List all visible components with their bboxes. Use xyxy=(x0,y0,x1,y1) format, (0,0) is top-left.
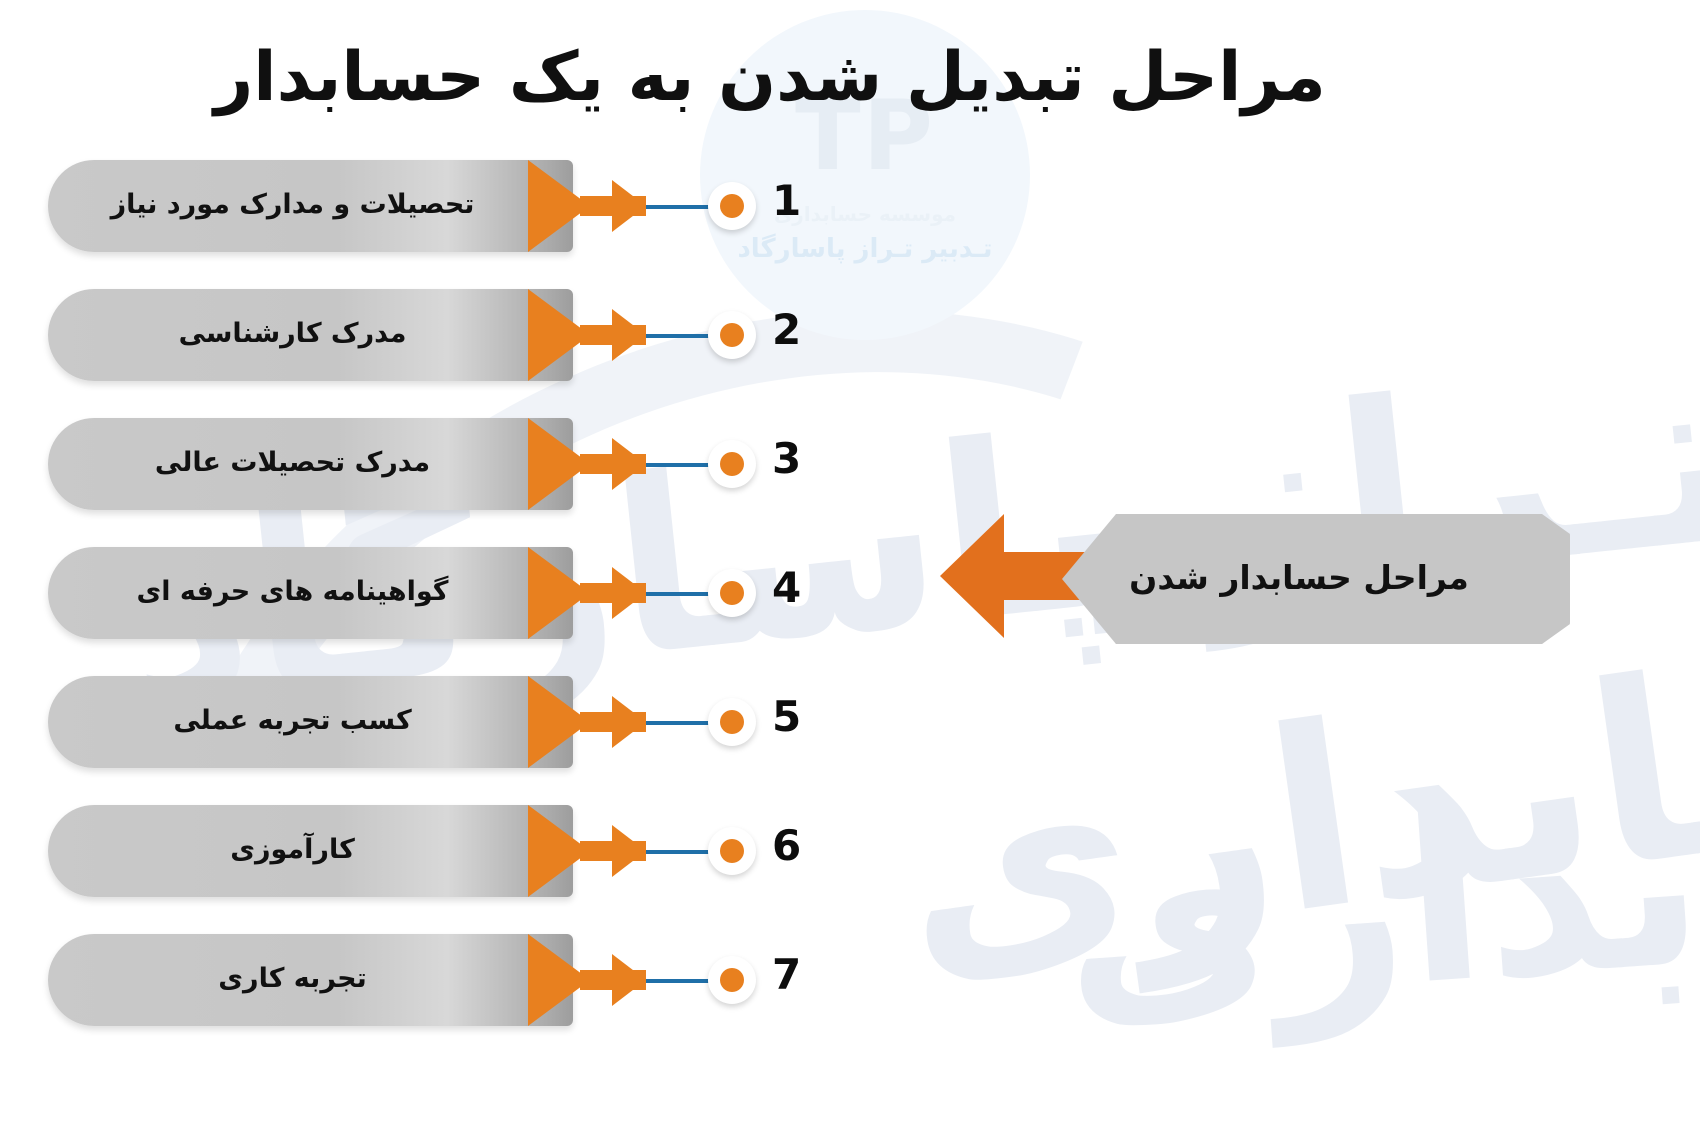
arrow-right-icon xyxy=(528,805,646,897)
step-number: 6 xyxy=(772,821,801,870)
step-marker xyxy=(708,569,756,617)
step-marker xyxy=(708,311,756,359)
step-label: گواهینامه های حرفه ای xyxy=(137,576,485,610)
watermark-calligraphy-bottom: موسسه حسابداری xyxy=(1055,667,1700,1042)
step-dot-icon xyxy=(720,839,744,863)
step-label: کسب تجربه عملی xyxy=(173,705,447,739)
summary-callout[interactable]: مراحل حسابدار شدن xyxy=(940,496,1570,656)
step-number: 1 xyxy=(772,176,801,225)
step-dot-icon xyxy=(720,323,744,347)
step-bar[interactable]: گواهینامه های حرفه ای xyxy=(48,547,573,639)
step-bar[interactable]: مدرک تحصیلات عالی xyxy=(48,418,573,510)
step-row[interactable]: مدرک کارشناسی 2 xyxy=(0,289,960,381)
summary-label: مراحل حسابدار شدن xyxy=(1129,558,1503,601)
step-label: کارآموزی xyxy=(230,834,391,868)
step-label: مدرک تحصیلات عالی xyxy=(155,447,466,481)
step-label: مدرک کارشناسی xyxy=(179,318,443,352)
step-bar[interactable]: مدرک کارشناسی xyxy=(48,289,573,381)
step-bar[interactable]: کارآموزی xyxy=(48,805,573,897)
step-dot-icon xyxy=(720,968,744,992)
step-bar[interactable]: تحصیلات و مدارک مورد نیاز xyxy=(48,160,573,252)
step-marker xyxy=(708,956,756,1004)
page-title: مراحل تبدیل شدن به یک حسابدار xyxy=(0,38,1700,117)
arrow-right-icon xyxy=(528,547,646,639)
step-row[interactable]: کسب تجربه عملی 5 xyxy=(0,676,960,768)
step-number: 2 xyxy=(772,305,801,354)
step-number: 7 xyxy=(772,950,801,999)
summary-box[interactable]: مراحل حسابدار شدن xyxy=(1062,514,1570,644)
step-row[interactable]: مدرک تحصیلات عالی 3 xyxy=(0,418,960,510)
step-row[interactable]: گواهینامه های حرفه ای 4 xyxy=(0,547,960,639)
step-dot-icon xyxy=(720,194,744,218)
step-number: 5 xyxy=(772,692,801,741)
step-dot-icon xyxy=(720,452,744,476)
steps-list: تحصیلات و مدارک مورد نیاز 1 مدرک کارشناس… xyxy=(0,160,960,1063)
step-dot-icon xyxy=(720,710,744,734)
arrow-right-icon xyxy=(528,160,646,252)
step-dot-icon xyxy=(720,581,744,605)
step-label: تحصیلات و مدارک مورد نیاز xyxy=(111,189,511,223)
arrow-right-icon xyxy=(528,289,646,381)
step-row[interactable]: تجربه کاری 7 xyxy=(0,934,960,1026)
step-row[interactable]: کارآموزی 6 xyxy=(0,805,960,897)
step-bar[interactable]: کسب تجربه عملی xyxy=(48,676,573,768)
step-number: 4 xyxy=(772,563,801,612)
arrow-right-icon xyxy=(528,418,646,510)
step-marker xyxy=(708,182,756,230)
arrow-right-icon xyxy=(528,934,646,1026)
step-label: تجربه کاری xyxy=(218,963,402,997)
step-bar[interactable]: تجربه کاری xyxy=(48,934,573,1026)
step-number: 3 xyxy=(772,434,801,483)
arrow-right-icon xyxy=(528,676,646,768)
step-marker xyxy=(708,698,756,746)
step-marker xyxy=(708,440,756,488)
step-row[interactable]: تحصیلات و مدارک مورد نیاز 1 xyxy=(0,160,960,252)
step-marker xyxy=(708,827,756,875)
